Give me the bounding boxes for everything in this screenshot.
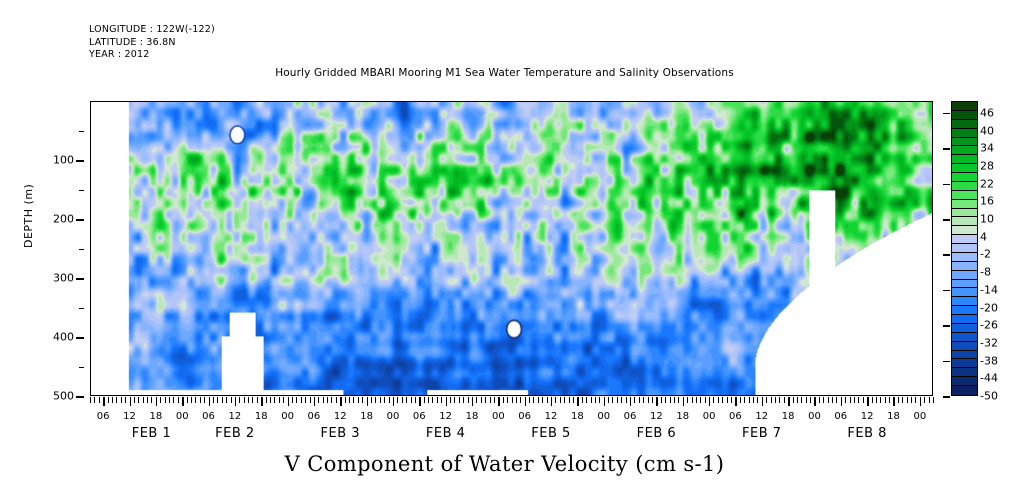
x-minor-tick [270,397,271,403]
x-minor-tick [441,397,442,403]
colorbar-tick-label: -26 [980,319,998,332]
x-minor-tick [125,397,126,403]
x-minor-tick [134,397,135,403]
x-minor-tick [801,397,802,403]
x-minor-tick [459,397,460,403]
x-hour-label: 06 [97,411,110,422]
x-minor-tick [639,397,640,403]
x-minor-tick [349,397,350,403]
x-minor-tick [907,397,908,403]
x-hour-label: 00 [281,411,294,422]
x-minor-tick [885,397,886,403]
x-minor-tick [222,397,223,403]
x-minor-tick [784,397,785,403]
x-hour-label: 00 [387,411,400,422]
x-minor-tick [692,397,693,403]
x-minor-tick [617,397,618,403]
x-minor-tick [274,397,275,403]
x-minor-tick [573,397,574,403]
colorbar-swatch [952,351,977,360]
x-major-tick [103,397,104,406]
x-minor-tick [468,397,469,403]
x-minor-tick [279,397,280,403]
x-major-tick [182,397,183,406]
x-minor-tick [204,397,205,403]
x-minor-tick [797,397,798,403]
x-major-tick [604,397,605,406]
colorbar-tick [943,184,950,186]
x-major-tick [630,397,631,406]
x-hour-label: 12 [123,411,136,422]
x-minor-tick [248,397,249,403]
colorbar-swatch [952,359,977,368]
colorbar-swatch [952,129,977,138]
x-major-tick [893,397,894,406]
x-minor-tick [665,397,666,403]
x-minor-tick [555,397,556,403]
x-minor-tick [612,397,613,403]
x-major-tick [419,397,420,406]
colorbar-swatch [952,253,977,262]
colorbar-labels: 464034282216104-2-8-14-20-26-32-38-44-50 [980,101,1009,396]
x-minor-tick [643,397,644,403]
colorbar-swatch [952,306,977,315]
x-minor-tick [810,397,811,403]
x-minor-tick [753,397,754,403]
colorbar-swatch [952,111,977,120]
colorbar-tick [943,325,950,327]
x-minor-tick [503,397,504,403]
x-minor-tick [450,397,451,403]
x-minor-tick [727,397,728,403]
x-major-tick [762,397,763,406]
colorbar-tick-label: 16 [980,195,994,208]
x-minor-tick [516,397,517,403]
x-minor-tick [608,397,609,403]
colorbar-tick-label: -2 [980,248,991,261]
x-day-label: FEB 4 [426,426,466,441]
x-minor-tick [305,397,306,403]
x-day-label: FEB 5 [531,426,571,441]
x-minor-tick [173,397,174,403]
metadata-block: LONGITUDE : 122W(-122) LATITUDE : 36.8N … [89,24,215,62]
colorbar-tick-label: -32 [980,336,998,349]
y-minor-tick [79,249,84,251]
x-hour-label: 12 [650,411,663,422]
x-hour-label: 06 [518,411,531,422]
colorbar-tick-label: -38 [980,354,998,367]
x-hour-label: 06 [624,411,637,422]
x-minor-tick [99,397,100,403]
x-minor-tick [108,397,109,403]
colorbar-swatch [952,155,977,164]
colorbar-tick [943,396,950,398]
colorbar-swatch [952,173,977,182]
x-major-tick [235,397,236,406]
x-minor-tick [599,397,600,403]
x-minor-tick [292,397,293,403]
latitude-text: LATITUDE : 36.8N [89,37,176,48]
x-minor-tick [661,397,662,403]
x-hour-label: 12 [334,411,347,422]
x-minor-tick [648,397,649,403]
x-minor-tick [437,397,438,403]
colorbar-swatch [952,200,977,209]
x-major-tick [867,397,868,406]
x-hour-label: 00 [703,411,716,422]
x-major-tick [709,397,710,406]
colorbar-tick-label: 10 [980,213,994,226]
x-minor-tick [454,397,455,403]
x-minor-tick [389,397,390,403]
x-minor-tick [481,397,482,403]
x-minor-tick [362,397,363,403]
y-axis-title: DEPTH (m) [22,184,35,248]
x-minor-tick [933,397,934,403]
colorbar-swatch [952,235,977,244]
x-hour-label: 18 [149,411,162,422]
x-minor-tick [195,397,196,403]
x-minor-tick [929,397,930,403]
x-minor-tick [257,397,258,403]
x-minor-tick [582,397,583,403]
x-minor-tick [740,397,741,403]
x-minor-tick [586,397,587,403]
x-minor-tick [428,397,429,403]
x-major-tick [367,397,368,406]
x-minor-tick [924,397,925,403]
x-minor-tick [696,397,697,403]
colorbar-tick-label: -8 [980,266,991,279]
x-major-tick [577,397,578,406]
colorbar-tick-label: -20 [980,301,998,314]
x-day-label: FEB 7 [742,426,782,441]
colorbar-swatch [952,297,977,306]
y-tick-label: 400 [53,331,74,344]
heatmap-plot-area [90,101,933,396]
x-minor-tick [819,397,820,403]
x-hour-label: 00 [492,411,505,422]
x-major-tick [814,397,815,406]
x-minor-tick [252,397,253,403]
x-minor-tick [310,397,311,403]
x-minor-tick [239,397,240,403]
colorbar-tick [943,361,950,363]
colorbar-swatch [952,262,977,271]
x-minor-tick [94,397,95,403]
x-minor-tick [560,397,561,403]
x-major-tick [340,397,341,406]
y-tick-label: 200 [53,213,74,226]
x-minor-tick [147,397,148,403]
x-major-tick [498,397,499,406]
y-tick-label: 500 [53,390,74,403]
x-minor-tick [749,397,750,403]
x-minor-tick [323,397,324,403]
x-minor-tick [775,397,776,403]
x-hour-label: 06 [413,411,426,422]
colorbar-swatch [952,386,977,395]
colorbar-swatch [952,315,977,324]
x-major-tick [261,397,262,406]
x-major-tick [551,397,552,406]
x-minor-tick [138,397,139,403]
x-hour-label: 18 [571,411,584,422]
colorbar-tick-label: 4 [980,230,987,243]
x-minor-tick [766,397,767,403]
x-minor-tick [191,397,192,403]
x-minor-tick [200,397,201,403]
x-minor-tick [327,397,328,403]
x-minor-tick [397,397,398,403]
x-minor-tick [845,397,846,403]
x-minor-tick [296,397,297,403]
colorbar-tick-label: 22 [980,177,994,190]
colorbar-swatch [952,146,977,155]
x-minor-tick [898,397,899,403]
x-minor-tick [828,397,829,403]
x-minor-tick [529,397,530,403]
x-minor-tick [626,397,627,403]
x-minor-tick [244,397,245,403]
x-minor-tick [520,397,521,403]
heatmap-grid [91,102,932,395]
x-minor-tick [187,397,188,403]
x-minor-tick [854,397,855,403]
x-minor-tick [731,397,732,403]
x-minor-tick [318,397,319,403]
x-minor-tick [336,397,337,403]
x-minor-tick [621,397,622,403]
x-minor-tick [165,397,166,403]
y-minor-tick [79,308,84,310]
x-minor-tick [512,397,513,403]
x-hour-label: 06 [729,411,742,422]
x-minor-tick [722,397,723,403]
x-minor-tick [266,397,267,403]
y-tick [76,160,84,162]
colorbar-tick-label: 34 [980,142,994,155]
x-minor-tick [371,397,372,403]
x-minor-tick [485,397,486,403]
x-minor-tick [353,397,354,403]
x-hour-label: 12 [861,411,874,422]
x-minor-tick [345,397,346,403]
colorbar-tick [943,290,950,292]
y-tick-label: 300 [53,272,74,285]
y-tick-label: 100 [53,154,74,167]
x-minor-tick [876,397,877,403]
x-minor-tick [283,397,284,403]
x-minor-tick [564,397,565,403]
x-minor-tick [744,397,745,403]
x-minor-tick [902,397,903,403]
colorbar [951,101,978,396]
x-major-tick [472,397,473,406]
x-minor-tick [375,397,376,403]
x-hour-label: 12 [229,411,242,422]
colorbar-tick-label: 46 [980,106,994,119]
x-minor-tick [889,397,890,403]
x-hour-label: 18 [887,411,900,422]
colorbar-swatch [952,280,977,289]
colorbar-swatch [952,164,977,173]
x-day-label: FEB 8 [847,426,887,441]
colorbar-swatch [952,271,977,280]
x-hour-label: 18 [782,411,795,422]
x-major-tick [525,397,526,406]
x-minor-tick [463,397,464,403]
x-minor-tick [911,397,912,403]
x-minor-tick [160,397,161,403]
x-major-tick [656,397,657,406]
x-minor-tick [406,397,407,403]
x-hour-label: 12 [439,411,452,422]
x-minor-tick [178,397,179,403]
x-minor-tick [143,397,144,403]
colorbar-swatch [952,333,977,342]
x-major-tick [288,397,289,406]
x-minor-tick [494,397,495,403]
x-minor-tick [90,397,91,403]
x-minor-tick [863,397,864,403]
y-minor-tick [79,367,84,369]
x-minor-tick [424,397,425,403]
x-minor-tick [121,397,122,403]
x-hour-label: 18 [360,411,373,422]
colorbar-swatch [952,102,977,111]
colorbar-swatch [952,324,977,333]
colorbar-swatch [952,244,977,253]
x-minor-tick [301,397,302,403]
x-minor-tick [591,397,592,403]
colorbar-swatch [952,226,977,235]
x-hour-label: 00 [913,411,926,422]
x-axis: 0612180006121800061218000612180006121800… [90,397,933,443]
x-day-label: FEB 6 [637,426,677,441]
y-axis: 100200300400500 [0,101,84,396]
colorbar-swatch [952,209,977,218]
x-minor-tick [823,397,824,403]
x-minor-tick [547,397,548,403]
colorbar-swatch [952,377,977,386]
longitude-text: LONGITUDE : 122W(-122) [89,24,215,35]
x-minor-tick [850,397,851,403]
x-minor-tick [358,397,359,403]
x-major-tick [788,397,789,406]
colorbar-tick-label: -44 [980,372,998,385]
x-minor-tick [652,397,653,403]
x-minor-tick [432,397,433,403]
x-minor-tick [771,397,772,403]
x-minor-tick [880,397,881,403]
x-minor-tick [402,397,403,403]
x-hour-label: 18 [676,411,689,422]
x-minor-tick [569,397,570,403]
x-minor-tick [490,397,491,403]
x-minor-tick [832,397,833,403]
figure-caption: V Component of Water Velocity (cm s-1) [0,452,1009,476]
x-major-tick [683,397,684,406]
x-minor-tick [757,397,758,403]
y-tick [76,396,84,398]
y-tick [76,219,84,221]
x-minor-tick [836,397,837,403]
x-hour-label: 12 [545,411,558,422]
y-tick [76,337,84,339]
x-minor-tick [226,397,227,403]
x-minor-tick [231,397,232,403]
colorbar-swatch [952,342,977,351]
colorbar-swatch [952,182,977,191]
x-minor-tick [331,397,332,403]
x-minor-tick [793,397,794,403]
x-minor-tick [542,397,543,403]
x-minor-tick [687,397,688,403]
colorbar-swatch [952,138,977,147]
colorbar-tick-label: -14 [980,283,998,296]
x-major-tick [156,397,157,406]
x-day-label: FEB 2 [215,426,255,441]
x-minor-tick [217,397,218,403]
x-minor-tick [213,397,214,403]
x-minor-tick [705,397,706,403]
colorbar-tick [943,148,950,150]
x-minor-tick [779,397,780,403]
x-hour-label: 00 [597,411,610,422]
x-hour-label: 06 [308,411,321,422]
x-minor-tick [713,397,714,403]
x-hour-label: 18 [466,411,479,422]
x-minor-tick [476,397,477,403]
y-minor-tick [79,131,84,133]
colorbar-tick-label: 28 [980,159,994,172]
colorbar-swatch [952,368,977,377]
x-minor-tick [415,397,416,403]
chart-title: Hourly Gridded MBARI Mooring M1 Sea Wate… [0,67,1009,79]
x-minor-tick [674,397,675,403]
year-text: YEAR : 2012 [89,49,150,60]
x-minor-tick [380,397,381,403]
x-major-tick [314,397,315,406]
x-major-tick [841,397,842,406]
x-hour-label: 06 [834,411,847,422]
x-minor-tick [678,397,679,403]
x-minor-tick [169,397,170,403]
colorbar-tick [943,219,950,221]
x-minor-tick [533,397,534,403]
colorbar-swatch [952,120,977,129]
x-major-tick [130,397,131,406]
colorbar-tick-label: 40 [980,124,994,137]
x-minor-tick [151,397,152,403]
x-hour-label: 00 [176,411,189,422]
x-hour-label: 18 [255,411,268,422]
y-tick [76,278,84,280]
x-minor-tick [858,397,859,403]
x-minor-tick [411,397,412,403]
x-hour-label: 06 [202,411,215,422]
x-minor-tick [595,397,596,403]
x-minor-tick [700,397,701,403]
colorbar-tick-label: -50 [980,390,998,403]
x-minor-tick [806,397,807,403]
x-hour-label: 12 [755,411,768,422]
x-minor-tick [634,397,635,403]
x-minor-tick [670,397,671,403]
x-major-tick [735,397,736,406]
x-minor-tick [872,397,873,403]
